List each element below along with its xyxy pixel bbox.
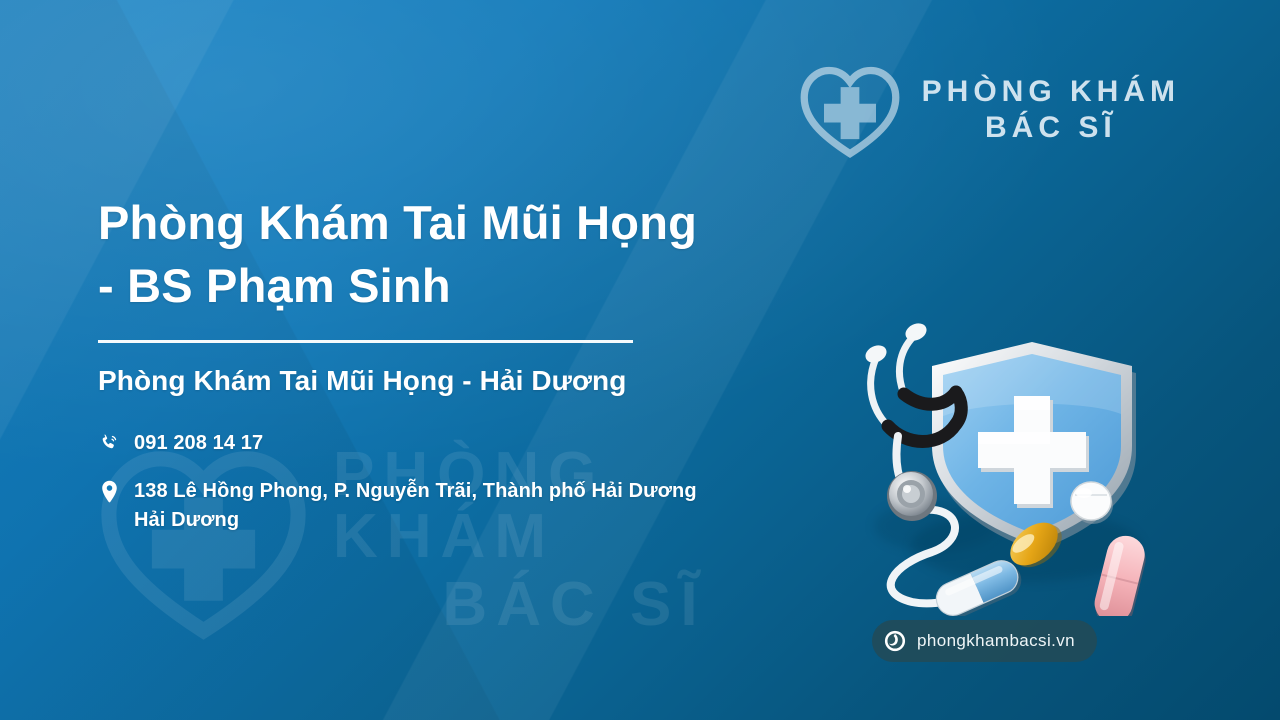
brand-line2: BÁC SĨ — [985, 113, 1117, 143]
map-pin-icon — [98, 477, 120, 504]
brand-logo: PHÒNG KHÁM BÁC SĨ — [798, 58, 1180, 162]
address-line-1: 138 Lê Hồng Phong, P. Nguyễn Trãi, Thành… — [134, 480, 697, 502]
clinic-banner: PHÒNG KHÁM BÁC SĨ PHÒNG KHÁM BÁC SĨ Phòn… — [0, 0, 1280, 720]
watermark-line2: BÁC SĨ — [333, 574, 816, 636]
brand-text: PHÒNG KHÁM BÁC SĨ — [922, 77, 1180, 143]
hero-content: Phòng Khám Tai Mũi Họng - BS Phạm Sinh P… — [98, 192, 868, 534]
title-line-2: - BS Phạm Sinh — [98, 255, 868, 318]
contact-address-row[interactable]: 138 Lê Hồng Phong, P. Nguyễn Trãi, Thành… — [98, 477, 868, 534]
page-title: Phòng Khám Tai Mũi Họng - BS Phạm Sinh — [98, 192, 868, 318]
contact-block: 091 208 14 17 138 Lê Hồng Phong, P. Nguy… — [98, 429, 868, 534]
contact-phone-row[interactable]: 091 208 14 17 — [98, 429, 868, 457]
brand-line1: PHÒNG KHÁM — [922, 77, 1180, 107]
website-badge[interactable]: phongkhambacsi.vn — [872, 620, 1097, 662]
title-divider — [98, 340, 633, 343]
phone-number: 091 208 14 17 — [134, 429, 263, 457]
website-url: phongkhambacsi.vn — [917, 631, 1075, 651]
heart-cross-logo-icon — [798, 58, 902, 162]
page-subtitle: Phòng Khám Tai Mũi Họng - Hải Dương — [98, 365, 868, 397]
medical-illustration — [836, 296, 1166, 616]
title-line-1: Phòng Khám Tai Mũi Họng — [98, 196, 697, 249]
globe-icon — [884, 630, 906, 652]
phone-icon — [98, 429, 120, 453]
address-text: 138 Lê Hồng Phong, P. Nguyễn Trãi, Thành… — [134, 477, 697, 534]
address-line-2: Hải Dương — [134, 509, 239, 531]
